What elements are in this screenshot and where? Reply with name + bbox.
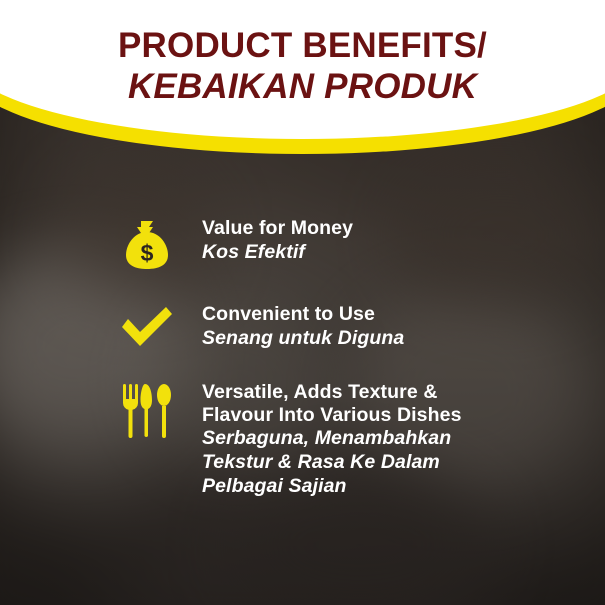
benefit-text: Value for Money Kos Efektif xyxy=(176,217,353,263)
benefit-english-label: Convenient to Use xyxy=(202,303,404,326)
svg-text:$: $ xyxy=(141,240,154,266)
benefit-item: $ Value for Money Kos Efektif xyxy=(118,217,558,271)
cutlery-icon xyxy=(118,381,176,439)
page-title-line-2: KEBAIKAN PRODUK xyxy=(0,69,605,104)
benefit-text: Versatile, Adds Texture & Flavour Into V… xyxy=(176,381,462,497)
money-bag-icon: $ xyxy=(118,217,176,271)
benefit-malay-label-line-3: Pelbagai Sajian xyxy=(202,475,462,498)
benefit-item: Convenient to Use Senang untuk Diguna xyxy=(118,303,558,349)
page-title: PRODUCT BENEFITS/ KEBAIKAN PRODUK xyxy=(0,28,605,104)
benefit-english-label: Value for Money xyxy=(202,217,353,240)
benefit-malay-label-line-1: Serbaguna, Menambahkan xyxy=(202,427,462,450)
benefits-list: $ Value for Money Kos Efektif Convenient… xyxy=(118,215,558,529)
header-banner: PRODUCT BENEFITS/ KEBAIKAN PRODUK xyxy=(0,0,605,200)
benefit-malay-label: Senang untuk Diguna xyxy=(202,327,404,350)
benefit-item: Versatile, Adds Texture & Flavour Into V… xyxy=(118,381,558,497)
benefit-english-label-line-1: Versatile, Adds Texture & xyxy=(202,381,462,404)
benefit-text: Convenient to Use Senang untuk Diguna xyxy=(176,303,404,349)
page-title-line-1: PRODUCT BENEFITS/ xyxy=(0,28,605,63)
product-benefits-poster: PRODUCT BENEFITS/ KEBAIKAN PRODUK $ Valu… xyxy=(0,0,605,605)
benefit-english-label-line-2: Flavour Into Various Dishes xyxy=(202,404,462,427)
benefit-malay-label: Kos Efektif xyxy=(202,241,353,264)
benefit-malay-label-line-2: Tekstur & Rasa Ke Dalam xyxy=(202,451,462,474)
checkmark-icon xyxy=(118,303,176,349)
